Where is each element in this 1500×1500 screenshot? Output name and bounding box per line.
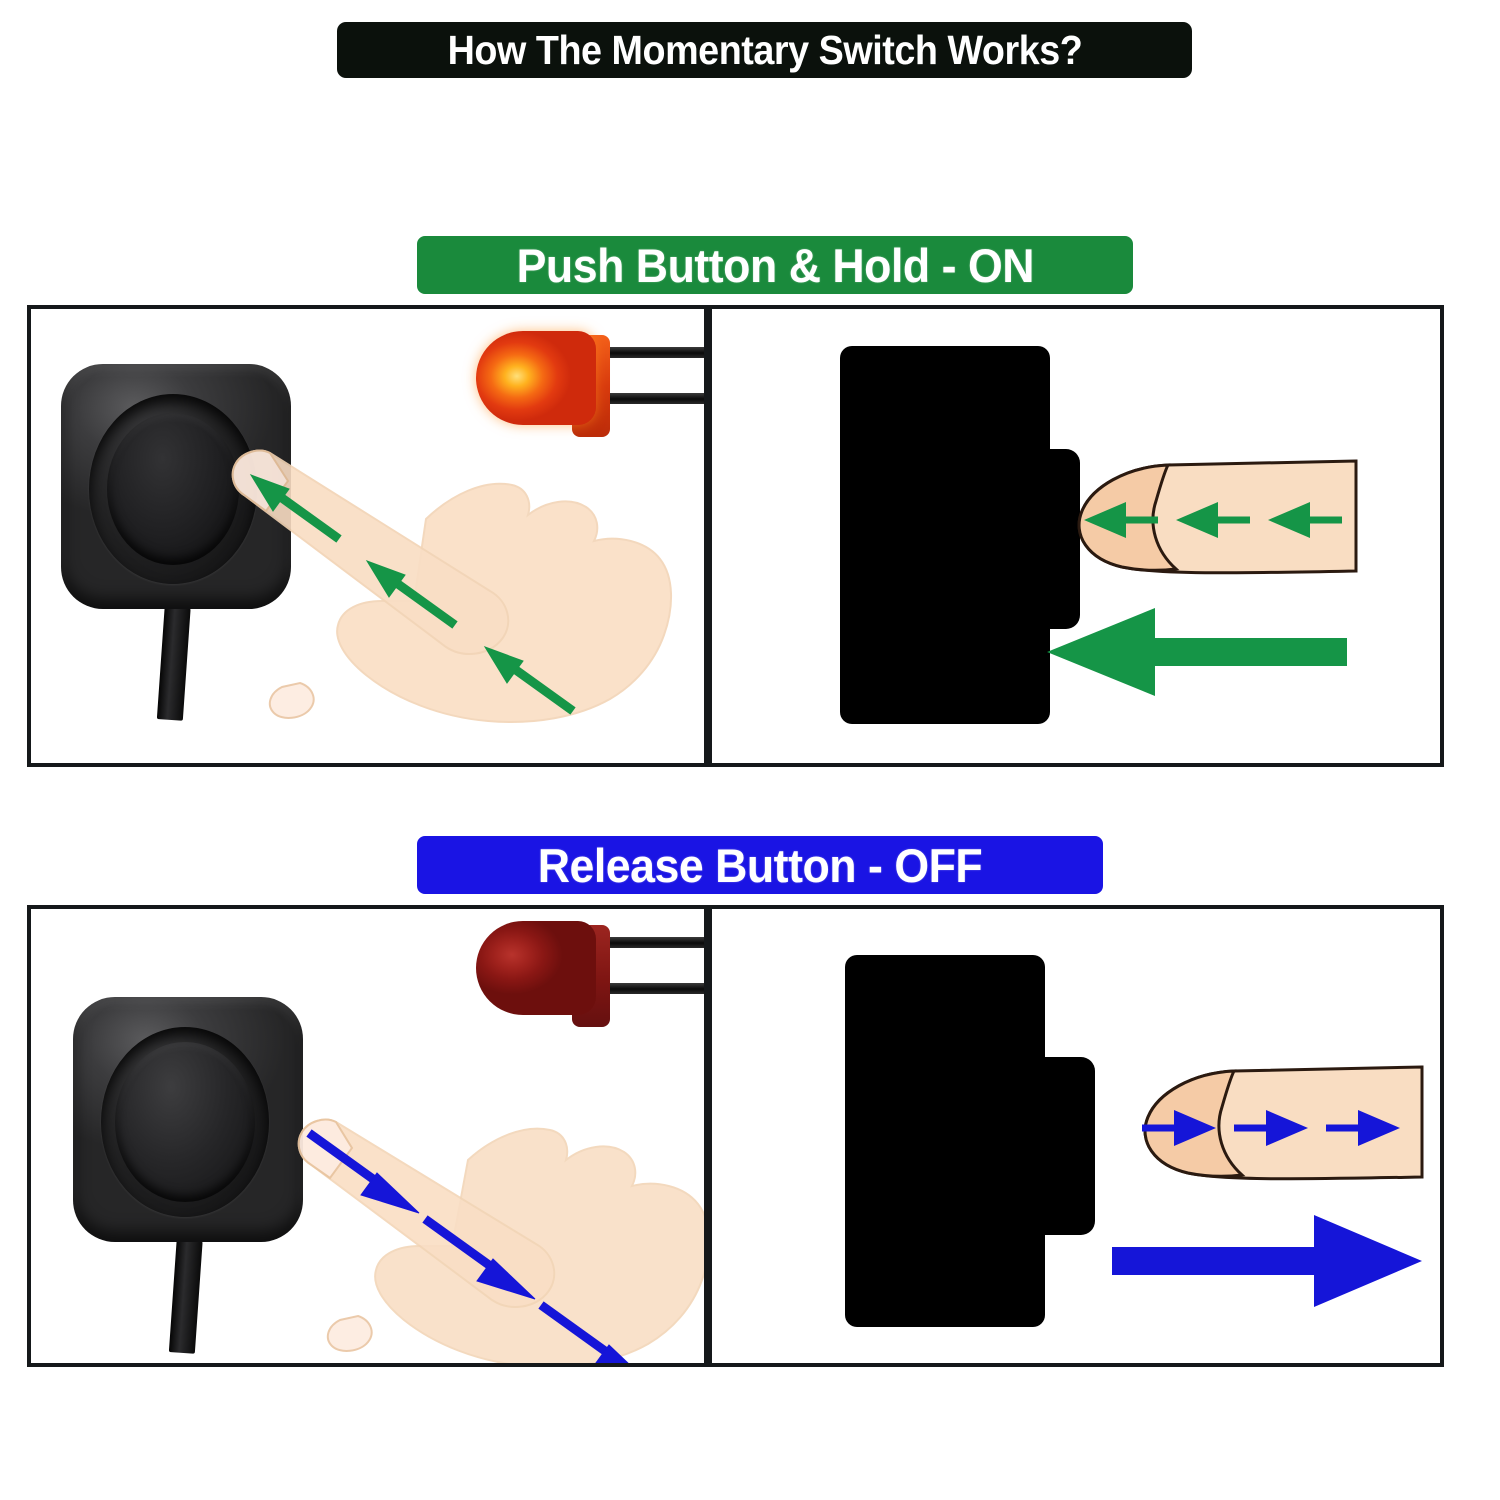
arrow-icon-3	[541, 1305, 651, 1363]
arrow-icon-big-right	[1112, 1209, 1422, 1313]
panel-on-front-view	[27, 305, 708, 767]
led-lead-cathode	[596, 983, 704, 994]
arrow-icon-3	[1326, 1110, 1400, 1146]
arrow-icon-group-release	[301, 1127, 701, 1363]
arrow-icon-2	[425, 1219, 535, 1299]
switch-button-cap[interactable]	[1037, 1057, 1095, 1235]
switch-button-cap[interactable]	[115, 1042, 255, 1202]
arrow-icon-1	[309, 1133, 419, 1213]
arrow-icon-3	[485, 647, 573, 711]
arrow-icon-group-press-small	[1074, 497, 1344, 543]
page-title-text: How The Momentary Switch Works?	[447, 27, 1082, 74]
arrow-icon-group-release-small	[1140, 1105, 1410, 1151]
led-lead-anode	[596, 937, 704, 948]
panel-off-front-view	[27, 905, 708, 1367]
page-title: How The Momentary Switch Works?	[337, 22, 1192, 78]
arrow-icon-1	[1142, 1110, 1216, 1146]
arrow-icon-2	[1234, 1110, 1308, 1146]
big-arrow-shape	[1112, 1215, 1422, 1307]
section-banner-off-text: Release Button - OFF	[538, 838, 982, 893]
push-button-switch-icon	[73, 997, 303, 1262]
section-banner-on-text: Push Button & Hold - ON	[516, 238, 1033, 293]
arrow-icon-3	[1268, 502, 1342, 538]
led-icon	[476, 921, 704, 1031]
arrow-icon-1	[251, 475, 339, 539]
arrow-icon-2	[1176, 502, 1250, 538]
switch-cross-section-icon	[845, 955, 1045, 1327]
section-banner-off: Release Button - OFF	[417, 836, 1103, 894]
big-arrow-shape	[1047, 608, 1347, 696]
section-banner-on: Push Button & Hold - ON	[417, 236, 1133, 294]
switch-cable	[157, 599, 191, 721]
switch-cable	[169, 1232, 203, 1354]
arrow-icon-1	[1084, 502, 1158, 538]
led-lead-anode	[596, 347, 704, 358]
arrow-icon-group-push	[231, 459, 631, 749]
led-lead-cathode	[596, 393, 704, 404]
arrow-icon-2	[367, 561, 455, 625]
panel-on-side-view	[708, 305, 1444, 767]
switch-button-cap[interactable]	[107, 413, 239, 565]
arrow-icon-big-left	[1047, 602, 1347, 702]
led-icon	[476, 331, 704, 441]
switch-cross-section-icon	[840, 346, 1050, 724]
led-dome	[476, 331, 596, 425]
led-dome	[476, 921, 596, 1015]
panel-off-side-view	[708, 905, 1444, 1367]
